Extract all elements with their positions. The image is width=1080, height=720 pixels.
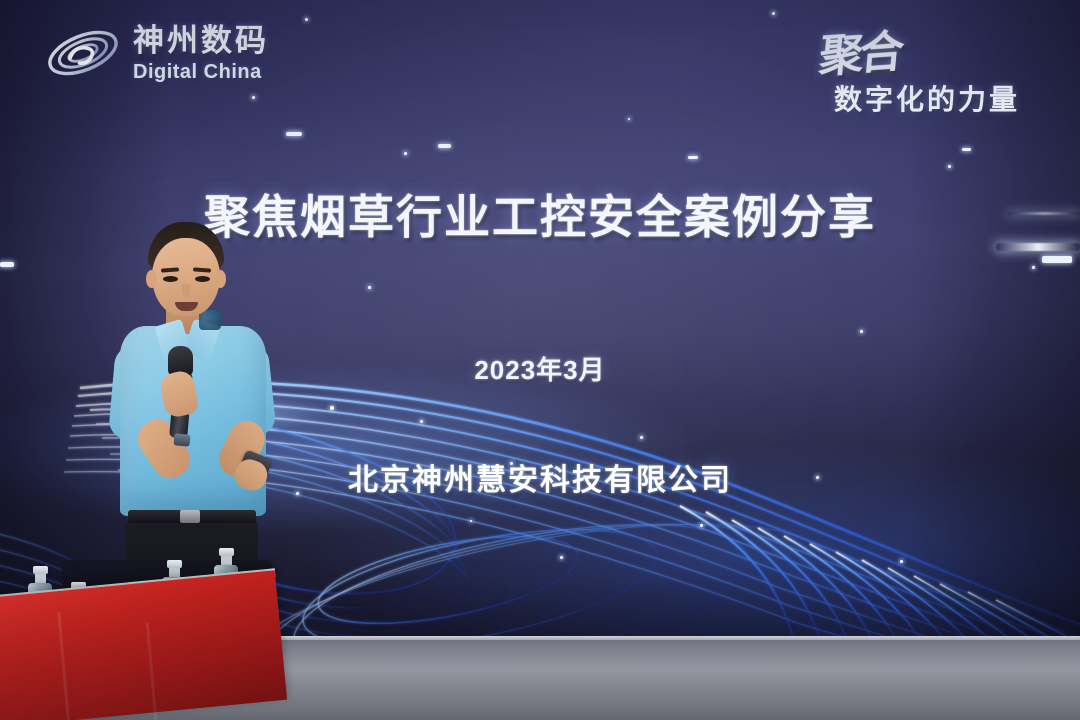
speaker-nose bbox=[182, 284, 190, 297]
speaker-ear-left bbox=[146, 270, 157, 288]
bottle-neck bbox=[35, 574, 46, 583]
microphone-tip bbox=[174, 433, 191, 446]
speaker-ear-right bbox=[215, 270, 226, 288]
bottle-neck bbox=[169, 568, 180, 577]
digital-china-logo: 神州数码 Digital China bbox=[45, 20, 269, 86]
speaker-eye-right bbox=[195, 276, 210, 282]
bottle-cap bbox=[219, 548, 234, 556]
brand-name-cn: 神州数码 bbox=[133, 25, 269, 56]
shirt-logo-badge bbox=[199, 310, 221, 330]
belt-buckle bbox=[180, 510, 200, 523]
spiral-galaxy-icon bbox=[45, 20, 121, 86]
bottle-cap bbox=[167, 560, 182, 568]
brand-name-en: Digital China bbox=[133, 62, 269, 82]
conference-stage-photo: 神州数码 Digital China 聚合 数字化的力量 聚焦烟草行业工控安全案… bbox=[0, 0, 1080, 720]
event-subtitle: 数字化的力量 bbox=[834, 78, 1020, 118]
speaker-eye-left bbox=[163, 276, 178, 282]
event-logo: 聚合 数字化的力量 bbox=[802, 18, 1062, 116]
event-brush-text: 聚合 bbox=[817, 15, 903, 84]
table-cloth bbox=[0, 570, 287, 720]
bottle-cap bbox=[33, 566, 48, 574]
bottle-neck bbox=[221, 556, 232, 565]
